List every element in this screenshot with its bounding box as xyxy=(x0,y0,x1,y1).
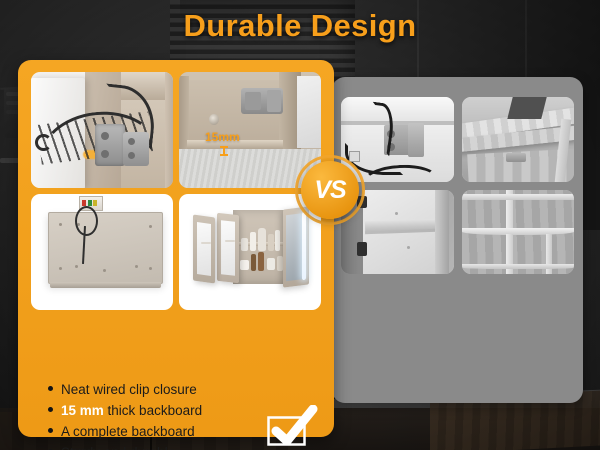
wire-clip-closure-photo xyxy=(31,72,173,188)
toiletry-items xyxy=(237,218,287,284)
cabinet-right-edge xyxy=(165,72,173,188)
negative-photo-grid xyxy=(341,97,574,274)
list-item-label: 15 mm thick backboard xyxy=(61,403,202,418)
list-item-label: Sturdy and durable xyxy=(61,445,175,450)
vs-badge: VS xyxy=(295,155,365,225)
power-wire-loop xyxy=(75,206,98,236)
list-item-emphasis: 15 mm xyxy=(61,403,104,418)
positive-comparison-panel: 15mm xyxy=(18,60,334,437)
hinge-plate xyxy=(95,124,125,166)
list-item-label: A complete backboard xyxy=(61,424,195,439)
door-handle-left xyxy=(201,242,211,244)
list-item: A complete backboard xyxy=(48,424,248,439)
negative-comparison-panel: Cluttered wire layout 5 mm thick backboa… xyxy=(332,77,583,403)
cabinet-interior-side xyxy=(179,76,189,150)
thickness-measurement-label: 15mm xyxy=(205,130,240,144)
mirror-door-edge xyxy=(297,76,321,148)
bullet-dot-icon xyxy=(48,386,53,391)
mirror-door-left xyxy=(193,214,215,283)
thin-splice-boards-photo xyxy=(462,97,575,182)
wire-hook-end xyxy=(35,134,52,151)
product-comparison-infographic: Durable Design xyxy=(0,0,600,450)
hinge-plate-secondary xyxy=(123,132,149,166)
list-item: Neat wired clip closure xyxy=(48,382,248,397)
door-handle-middle xyxy=(225,240,235,242)
mirror-door-middle xyxy=(217,213,239,283)
screw-hole xyxy=(209,114,219,125)
vs-badge-label: VS xyxy=(314,178,345,203)
checkmark-box-icon xyxy=(266,405,318,449)
bullet-dot-icon xyxy=(48,428,53,433)
positive-feature-list: Neat wired clip closure 15 mm thick back… xyxy=(48,382,248,450)
list-item: Sturdy and durable xyxy=(48,445,248,450)
list-item-label: Neat wired clip closure xyxy=(61,382,197,397)
bullet-dot-icon xyxy=(48,407,53,412)
list-item: 15 mm thick backboard xyxy=(48,403,248,418)
hinge-assembly xyxy=(241,88,283,114)
measurement-caliper-icon xyxy=(223,146,225,156)
positive-photo-grid: 15mm xyxy=(31,72,321,310)
list-item-rest: thick backboard xyxy=(108,403,203,418)
deformed-shelf-photo xyxy=(462,190,575,275)
vs-badge-core: VS xyxy=(301,161,359,219)
backboard-panel xyxy=(48,212,163,284)
mounting-holes xyxy=(49,213,162,283)
page-title: Durable Design xyxy=(0,8,600,44)
complete-backboard-rear-photo xyxy=(31,194,173,310)
